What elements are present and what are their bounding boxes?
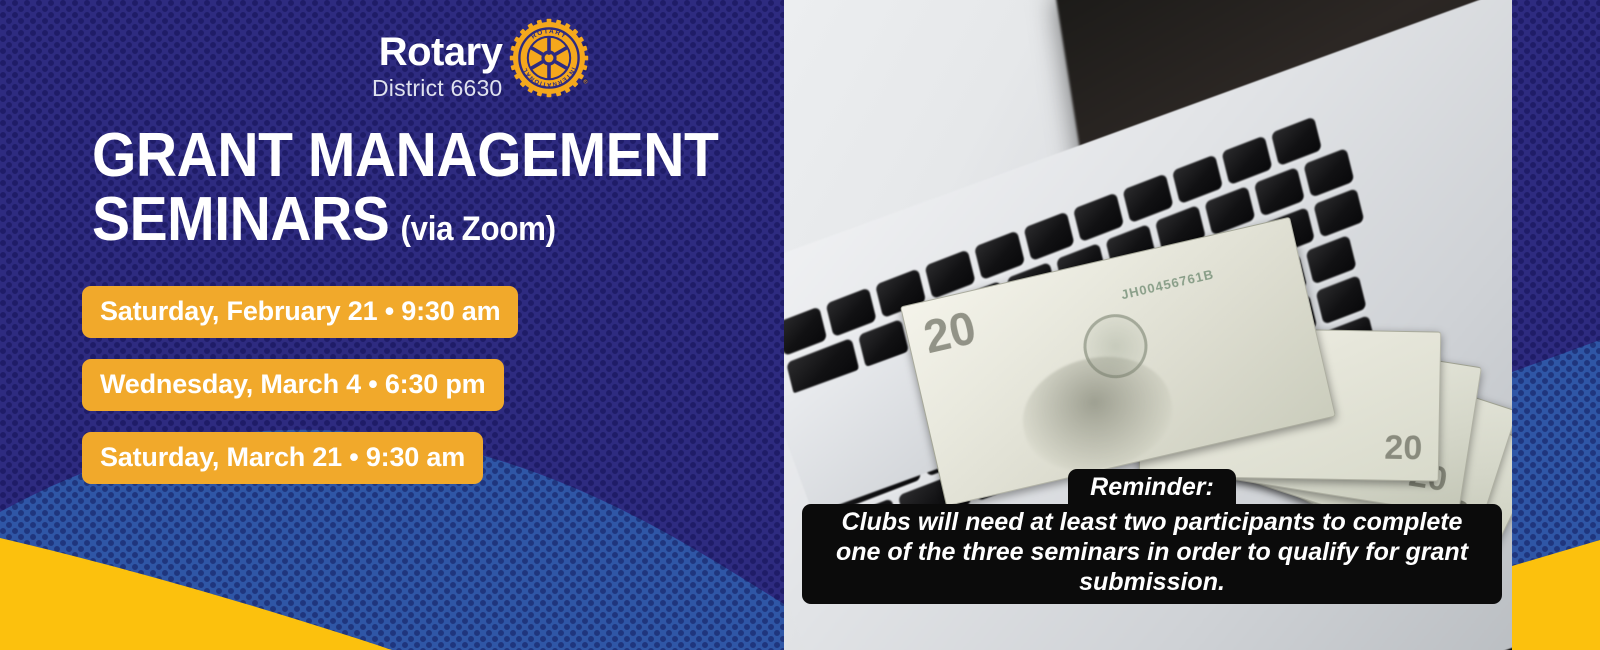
session-pill-2[interactable]: Wednesday, March 4 • 6:30 pm xyxy=(82,359,504,411)
headline-line-1: GRANT MANAGEMENT xyxy=(92,124,718,188)
headline-line-2: SEMINARS(via Zoom) xyxy=(92,188,718,261)
reminder-callout: Reminder: Clubs will need at least two p… xyxy=(802,469,1502,604)
bill-denomination-corner: 20 xyxy=(1384,429,1423,469)
session-pill-3[interactable]: Saturday, March 21 • 9:30 am xyxy=(82,432,483,484)
rotary-district-label: District 6630 xyxy=(372,75,502,102)
headline-seminars-word: SEMINARS xyxy=(92,185,389,254)
rotary-brand-name: Rotary xyxy=(379,30,503,74)
page-title: GRANT MANAGEMENT SEMINARS(via Zoom) xyxy=(92,124,772,261)
reminder-title: Reminder: xyxy=(1068,469,1236,504)
rotary-logo-lockup: Rotary District 6630 xyxy=(372,14,598,112)
rotary-seminar-banner: Rotary District 6630 xyxy=(0,0,1600,650)
right-accent-strip xyxy=(1512,0,1600,650)
session-list: Saturday, February 21 • 9:30 am Wednesda… xyxy=(82,286,518,484)
rotary-wheel-icon: ROTARY INTERNATIONAL ® xyxy=(509,18,589,98)
rotary-wordmark: Rotary District 6630 xyxy=(372,14,502,102)
session-pill-1[interactable]: Saturday, February 21 • 9:30 am xyxy=(82,286,518,338)
headline-modifier: (via Zoom) xyxy=(400,210,555,248)
registered-mark: ® xyxy=(584,79,589,86)
strip-yellow-block xyxy=(1512,0,1600,650)
bill-denomination-corner: 20 xyxy=(919,300,981,364)
money-on-laptop-photo: 20 20 20 20 20 JH00456761B Reminder: Clu… xyxy=(784,0,1512,650)
bill-serial-number: JH00456761B xyxy=(1120,266,1216,302)
reminder-body: Clubs will need at least two participant… xyxy=(802,504,1502,604)
left-info-panel: Rotary District 6630 xyxy=(0,0,784,650)
